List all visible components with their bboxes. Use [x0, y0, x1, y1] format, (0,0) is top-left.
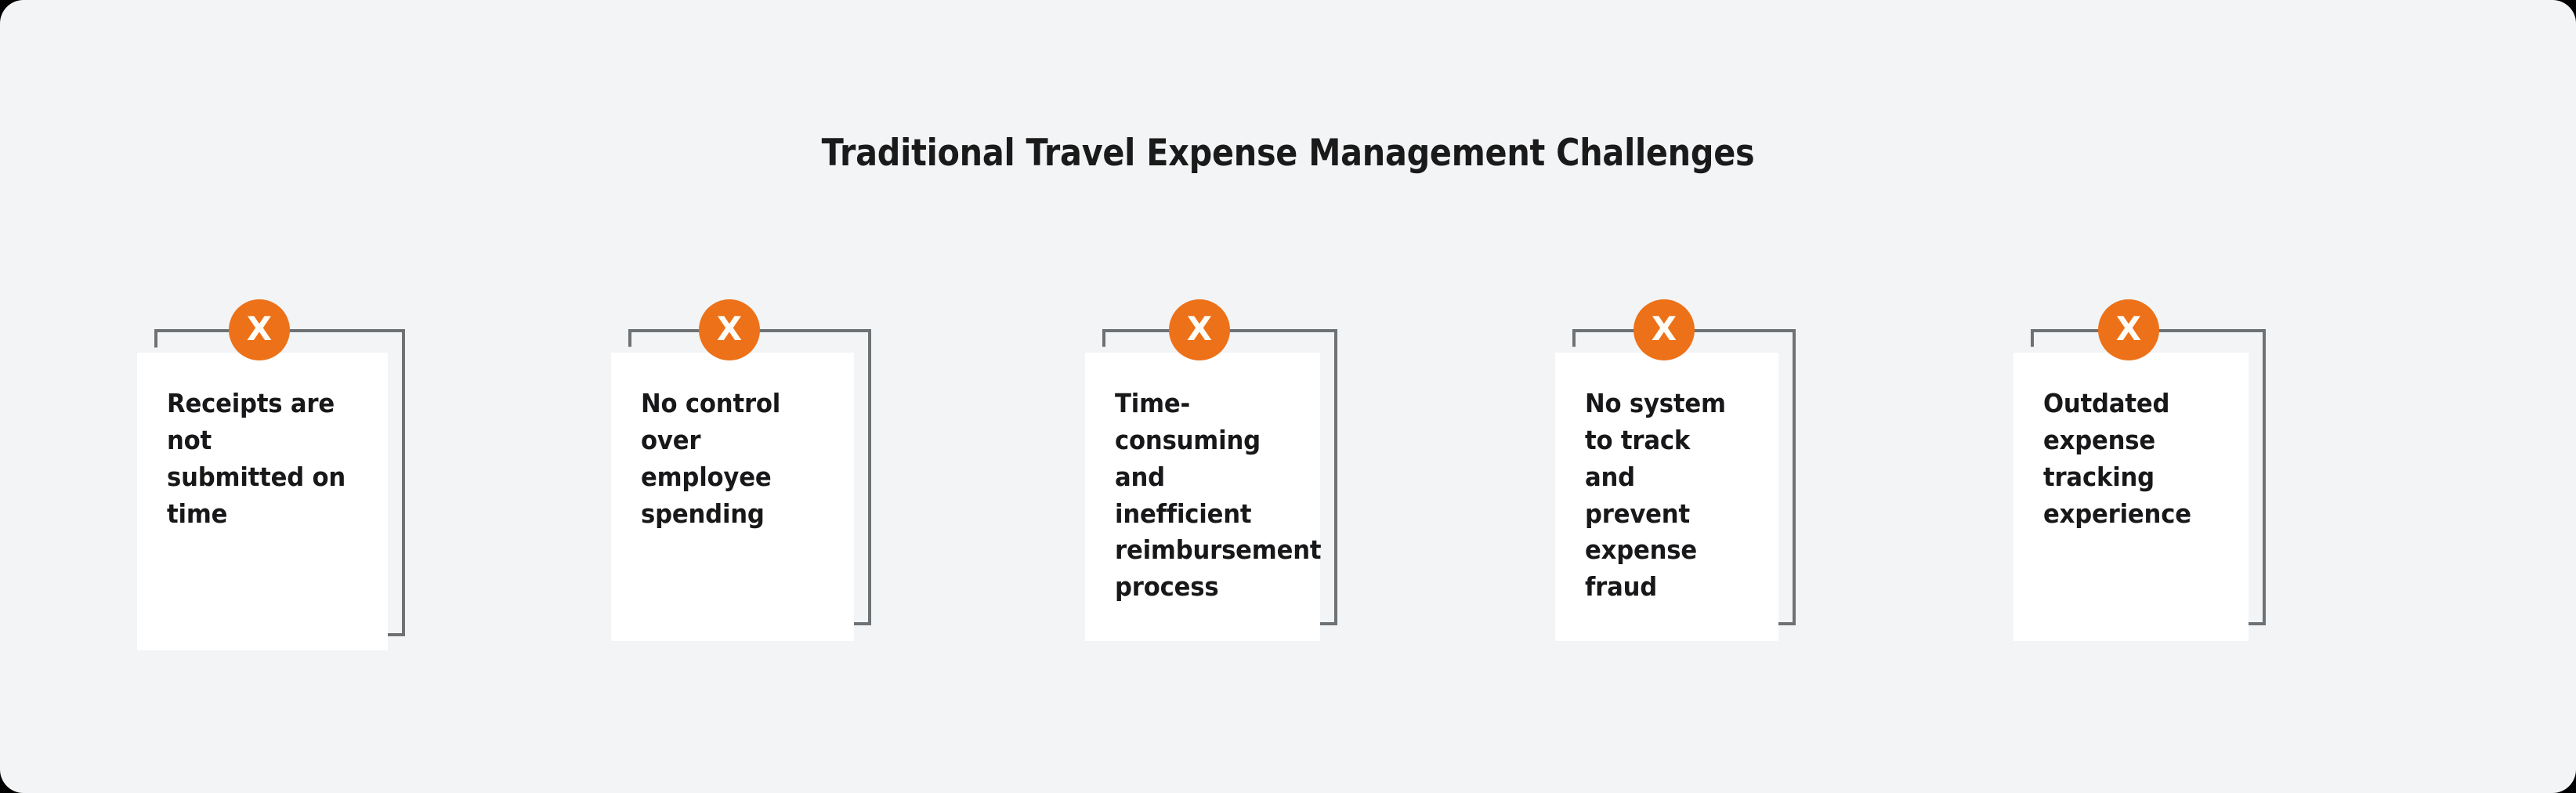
x-mark-icon: X: [2098, 299, 2159, 360]
challenge-cards-row: Receipts are not submitted on timeXNo co…: [0, 0, 2576, 793]
challenge-card[interactable]: No control over employee spendingX: [611, 329, 877, 657]
card-panel: Outdated expense tracking experience: [2013, 353, 2249, 641]
x-mark-icon: X: [1634, 299, 1695, 360]
card-panel: No control over employee spending: [611, 353, 854, 641]
card-text: Outdated expense tracking experience: [2043, 386, 2215, 532]
x-mark-icon: X: [229, 299, 290, 360]
challenge-card[interactable]: Time-consuming and inefficient reimburse…: [1085, 329, 1344, 657]
card-panel: No system to track and prevent expense f…: [1555, 353, 1778, 641]
challenge-card[interactable]: Receipts are not submitted on timeX: [137, 329, 411, 668]
card-text: Receipts are not submitted on time: [167, 386, 353, 532]
x-mark-icon-label: X: [2116, 313, 2141, 346]
card-text: No system to track and prevent expense f…: [1585, 386, 1746, 606]
x-mark-icon: X: [1169, 299, 1230, 360]
infographic-canvas: Traditional Travel Expense Management Ch…: [0, 0, 2576, 793]
card-text: No control over employee spending: [641, 386, 820, 532]
x-mark-icon-label: X: [247, 313, 272, 346]
challenge-card[interactable]: Outdated expense tracking experienceX: [2013, 329, 2272, 657]
x-mark-icon-label: X: [717, 313, 742, 346]
card-panel: Receipts are not submitted on time: [137, 353, 388, 650]
x-mark-icon-label: X: [1187, 313, 1212, 346]
challenge-card[interactable]: No system to track and prevent expense f…: [1555, 329, 1802, 657]
card-text: Time-consuming and inefficient reimburse…: [1115, 386, 1286, 606]
card-panel: Time-consuming and inefficient reimburse…: [1085, 353, 1320, 641]
x-mark-icon-label: X: [1652, 313, 1677, 346]
x-mark-icon: X: [699, 299, 760, 360]
